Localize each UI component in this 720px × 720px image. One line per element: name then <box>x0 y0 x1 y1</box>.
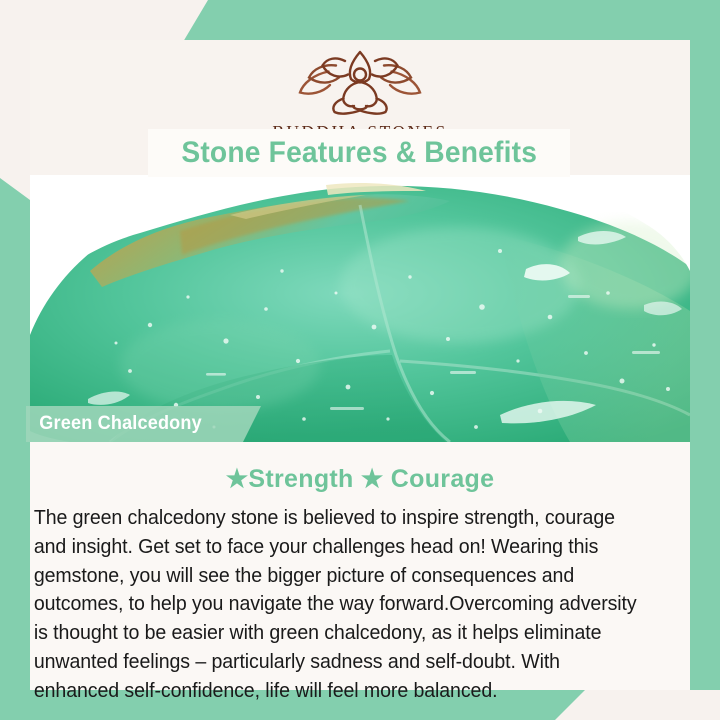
lotus-meditation-icon <box>285 46 435 118</box>
section-title-banner: Stone Features & Benefits <box>148 129 570 177</box>
frame-left-bar <box>0 178 30 720</box>
page-title: Stone Features & Benefits <box>181 136 537 170</box>
description-section: ★Strength ★ Courage The green chalcedony… <box>30 442 690 690</box>
stone-features-infographic: BUDDHA STONES Stone Features & Benefits <box>0 0 720 720</box>
stone-photo-art <box>30 175 690 442</box>
stone-name-band: Green Chalcedony <box>26 406 261 442</box>
stone-photo <box>30 175 690 442</box>
frame-right-bar <box>690 0 720 690</box>
benefits-subhead: ★Strength ★ Courage <box>30 442 690 494</box>
description-paragraph: The green chalcedony stone is believed t… <box>30 494 667 706</box>
stone-name-label: Green Chalcedony <box>26 413 202 435</box>
